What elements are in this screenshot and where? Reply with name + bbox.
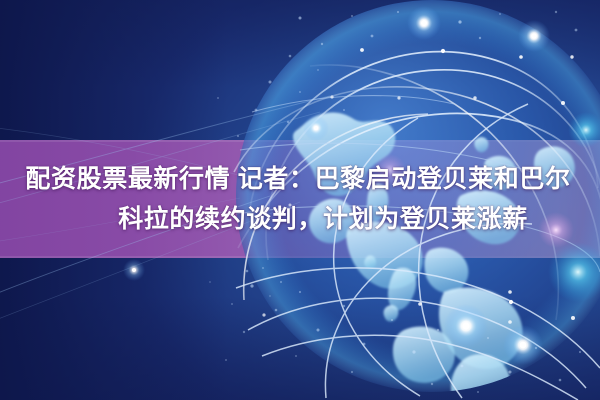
news-banner: 配资股票最新行情 记者：巴黎启动登贝莱和巴尔 科拉的续约谈判，计划为登贝莱涨薪: [0, 0, 600, 400]
page-title: 配资股票最新行情 记者：巴黎启动登贝莱和巴尔 科拉的续约谈判，计划为登贝莱涨薪: [0, 140, 600, 258]
headline-line-2: 科拉的续约谈判，计划为登贝莱涨薪: [72, 199, 528, 239]
headline-line-1: 配资股票最新行情 记者：巴黎启动登贝莱和巴尔: [25, 159, 574, 199]
